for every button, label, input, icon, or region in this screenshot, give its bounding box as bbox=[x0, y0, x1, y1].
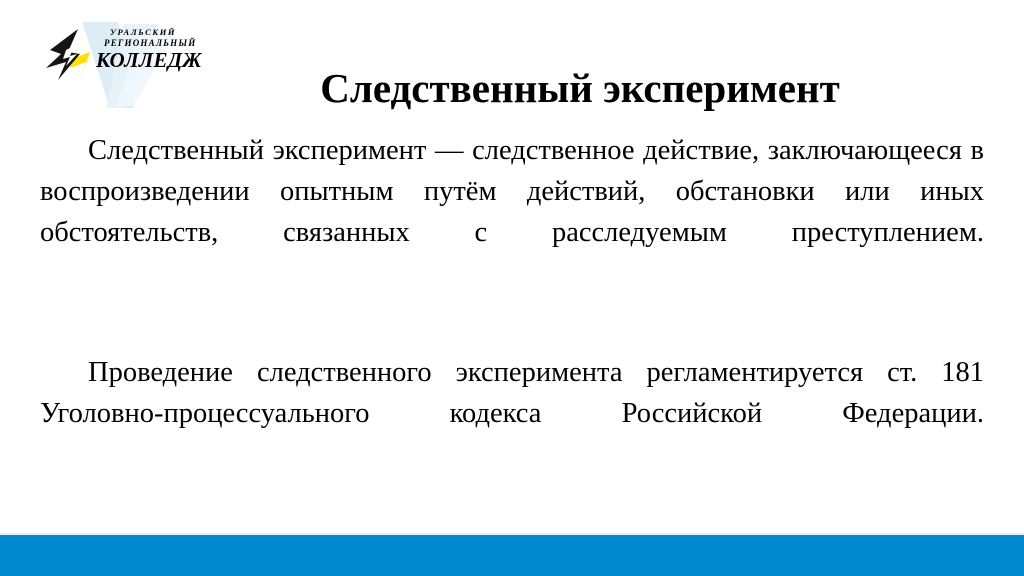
logo-text-uralskiy: УРАЛЬСКИЙ bbox=[110, 27, 176, 37]
slide-body: Следственный эксперимент — следственное … bbox=[40, 130, 984, 475]
logo-text-regionalny: РЕГИОНАЛЬНЫЙ bbox=[104, 38, 196, 48]
slide-canvas: УРАЛЬСКИЙ РЕГИОНАЛЬНЫЙ КОЛЛЕДЖ Следствен… bbox=[0, 0, 1024, 576]
body-paragraph-regulation: Проведение следственного эксперимента ре… bbox=[40, 352, 984, 475]
logo-arrow-mark bbox=[44, 28, 102, 90]
body-paragraph-definition: Следственный эксперимент — следственное … bbox=[40, 130, 984, 294]
slide-title: Следственный эксперимент bbox=[230, 63, 930, 113]
logo-wordmark: УРАЛЬСКИЙ РЕГИОНАЛЬНЫЙ КОЛЛЕДЖ bbox=[96, 27, 216, 89]
logo-text-kolledzh: КОЛЛЕДЖ bbox=[96, 48, 202, 72]
footer-accent-bar bbox=[0, 535, 1024, 576]
college-logo: УРАЛЬСКИЙ РЕГИОНАЛЬНЫЙ КОЛЛЕДЖ bbox=[44, 18, 214, 110]
